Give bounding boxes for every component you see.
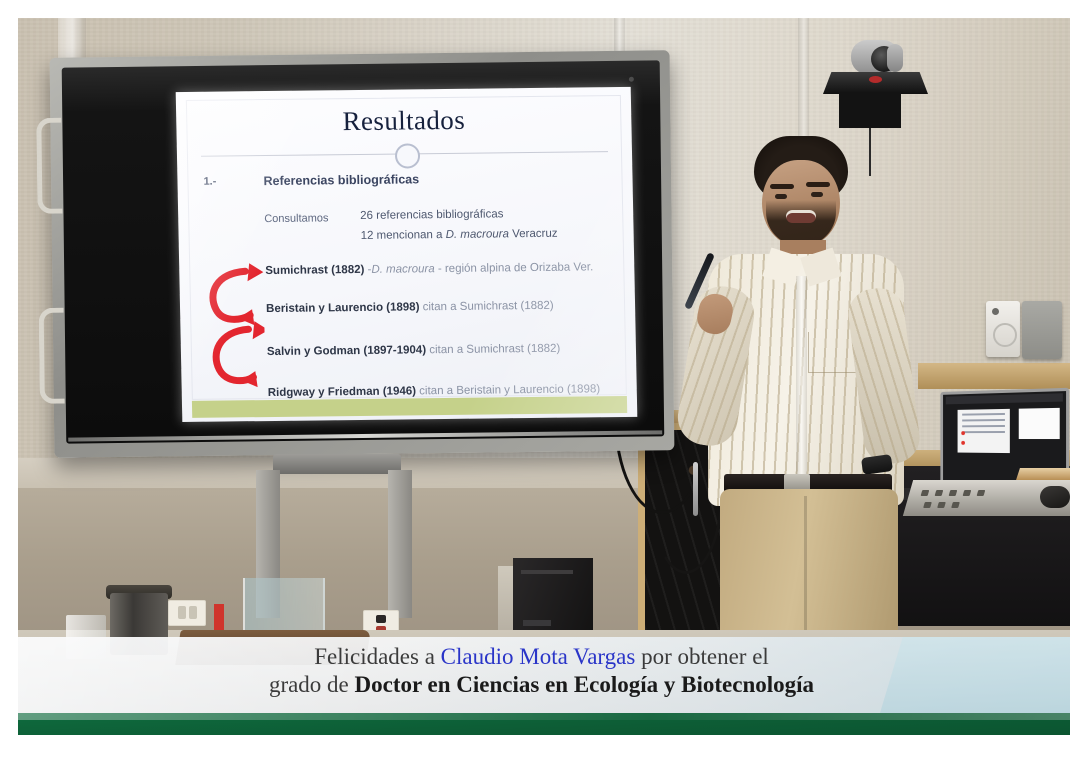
computer-mouse[interactable]	[1040, 486, 1070, 508]
preview-arrow-icon	[961, 431, 965, 435]
projected-slide: Resultados 1.- Referencias bibliográfica…	[176, 87, 638, 422]
key	[923, 502, 932, 508]
slide-title: Resultados	[176, 103, 632, 139]
ref-3-author: Salvin y Godman (1897-1904)	[267, 344, 426, 358]
display-handle-top[interactable]	[36, 118, 62, 214]
laptop-menu-bar	[946, 393, 1063, 404]
shirt-placket	[796, 276, 807, 504]
ref-4-author: Ridgway y Friedman (1946)	[268, 385, 417, 399]
power-led-icon	[629, 77, 634, 82]
wall-outlet-left	[168, 600, 206, 626]
brow-left	[770, 184, 794, 189]
arrowhead-1-icon	[247, 263, 263, 281]
preview-line	[962, 431, 1005, 433]
ref-3-rest: citan a Sumichrast (1882)	[426, 343, 560, 357]
slide-divider-circle-icon	[394, 143, 420, 168]
outlet-socket-icon	[376, 615, 386, 623]
preview-arrow-icon	[961, 441, 965, 445]
laptop-slide-preview	[958, 409, 1010, 453]
display-handle-bottom[interactable]	[39, 308, 65, 404]
wood-counter-upper	[918, 363, 1070, 389]
ref-1-author: Sumichrast (1882)	[265, 264, 364, 277]
banner-right-panel	[880, 637, 1070, 713]
display-stand-shelf	[273, 454, 401, 474]
tweeter-icon	[992, 308, 999, 315]
banner-line1-suffix: por obtener el	[635, 644, 768, 669]
camera-brand-mark	[869, 76, 882, 83]
camera-bracket	[839, 92, 901, 128]
key	[963, 490, 972, 496]
arrowhead-3-icon	[252, 321, 266, 339]
page-root: Resultados 1.- Referencias bibliográfica…	[0, 0, 1090, 760]
arrowhead-4-icon	[241, 371, 257, 387]
banner-line1-prefix: Felicidades a	[314, 644, 440, 669]
eye-left	[775, 194, 787, 199]
stand-leg-right	[388, 470, 412, 618]
slide-accent-bar	[192, 396, 627, 418]
key	[951, 502, 960, 508]
preview-line	[962, 425, 1005, 427]
key	[977, 490, 986, 496]
citation-arrows-icon	[201, 259, 266, 422]
slide-consulted-label: Consultamos	[264, 212, 328, 225]
conference-camera-assembly	[823, 40, 928, 130]
ref-4-rest: citan a Beristain y Laurencio (1898)	[416, 383, 600, 397]
notepad	[1016, 468, 1070, 480]
desktop-pc-tower	[513, 558, 593, 640]
banner-line-2: grado de Doctor en Ciencias en Ecología …	[198, 671, 885, 699]
banner-line2-prefix: grado de	[269, 672, 355, 697]
slide-section-title: Referencias bibliográficas	[263, 172, 419, 188]
presenter-pants	[720, 489, 898, 641]
slide-consulted-line-1: 26 referencias bibliográficas	[360, 208, 503, 222]
key	[935, 490, 944, 496]
slide-consulted-line-2: 12 mencionan a D. macroura Veracruz	[361, 228, 558, 242]
degree-title: Doctor en Ciencias en Ecología y Biotecn…	[355, 672, 815, 697]
camera-mount-arm	[887, 44, 903, 72]
pants-seam	[804, 496, 807, 642]
presenter	[680, 136, 932, 641]
key	[949, 490, 958, 496]
banner-line-1: Felicidades a Claudio Mota Vargas por ob…	[198, 643, 885, 671]
consulted-species-italic: D. macroura	[446, 228, 510, 241]
ref-2-author: Beristain y Laurencio (1898)	[266, 301, 420, 315]
key	[921, 490, 930, 496]
laptop-thumbnail-preview	[1019, 408, 1060, 439]
display-bezel: Resultados 1.- Referencias bibliográfica…	[62, 60, 665, 443]
outlet-socket-icon	[178, 606, 186, 619]
banner-text: Felicidades a Claudio Mota Vargas por ob…	[198, 643, 885, 699]
slide-section-number: 1.-	[203, 176, 216, 188]
optical-drive-slot[interactable]	[521, 570, 573, 574]
speaker-right	[1022, 301, 1062, 359]
presentation-display[interactable]: Resultados 1.- Referencias bibliográfica…	[50, 50, 675, 458]
congratulations-banner: Felicidades a Claudio Mota Vargas por ob…	[18, 637, 1070, 713]
key	[937, 502, 946, 508]
woofer-icon	[993, 323, 1017, 347]
consulted-prefix: 12 mencionan a	[361, 229, 446, 242]
eye-right	[811, 192, 823, 197]
ref-1-post: - región alpina de Orizaba Ver.	[435, 261, 594, 275]
tablecloth-highlight	[18, 713, 1070, 720]
ref-1-species: D. macroura	[371, 263, 435, 276]
preview-line	[962, 413, 1005, 416]
green-tablecloth	[18, 713, 1070, 735]
brow-right	[806, 182, 830, 187]
arrowhead-2-icon	[238, 309, 254, 325]
honoree-name: Claudio Mota Vargas	[441, 644, 636, 669]
preview-line	[962, 419, 1005, 421]
speaker-left	[986, 301, 1020, 357]
ref-2-rest: citan a Sumichrast (1882)	[419, 300, 553, 314]
event-photograph: Resultados 1.- Referencias bibliográfica…	[18, 18, 1070, 735]
outlet-socket-icon	[189, 606, 197, 619]
consulted-suffix: Veracruz	[509, 228, 558, 241]
pc-front-panel	[523, 620, 551, 626]
presenter-mouth	[786, 210, 816, 223]
